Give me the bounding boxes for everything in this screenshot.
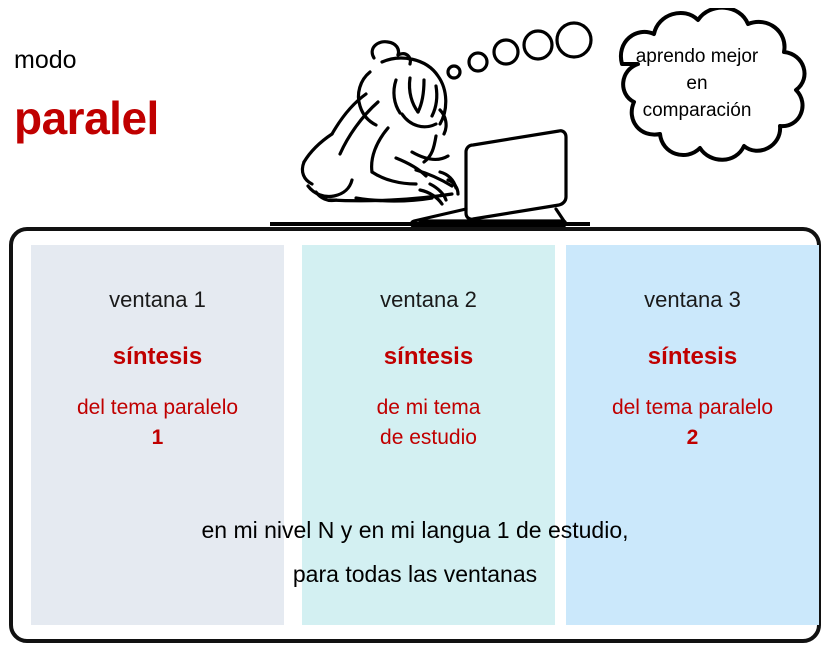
window-column-1-synthesis: síntesis — [31, 345, 284, 369]
window-column-2-body-line-2: de estudio — [302, 423, 555, 453]
page-title: paralel — [14, 95, 159, 141]
window-column-2-title: ventana 2 — [302, 289, 555, 311]
window-column-3-body: del tema paralelo 2 — [566, 393, 819, 453]
footer-note-line-2: para todas las ventanas — [13, 553, 817, 597]
window-column-1-body-line-2: 1 — [31, 423, 284, 453]
window-column-1-body: del tema paralelo 1 — [31, 393, 284, 453]
thought-bubble: aprendo mejor en comparación — [562, 8, 832, 186]
footer-note: en mi nivel N y en mi langua 1 de estudi… — [13, 509, 817, 596]
window-column-3-body-line-1: del tema paralelo — [612, 396, 773, 419]
window-column-2-body-line-1: de mi tema — [377, 396, 481, 419]
window-column-3-body-line-2: 2 — [566, 423, 819, 453]
mode-label: modo — [14, 48, 77, 73]
window-column-3-synthesis: síntesis — [566, 345, 819, 369]
windows-panel-frame: ventana 1 síntesis del tema paralelo 1 v… — [9, 227, 821, 643]
window-column-2-body: de mi tema de estudio — [302, 393, 555, 453]
thought-line-3: comparación — [592, 98, 802, 125]
footer-note-line-1: en mi nivel N y en mi langua 1 de estudi… — [13, 509, 817, 553]
window-column-2-synthesis: síntesis — [302, 345, 555, 369]
window-column-1-body-line-1: del tema paralelo — [77, 396, 238, 419]
thought-bubble-text: aprendo mejor en comparación — [592, 44, 802, 125]
window-column-3-title: ventana 3 — [566, 289, 819, 311]
thought-line-2: en — [592, 71, 802, 98]
slide-canvas: modo paralel — [0, 0, 834, 653]
window-column-1-title: ventana 1 — [31, 289, 284, 311]
thought-line-1: aprendo mejor — [592, 44, 802, 71]
